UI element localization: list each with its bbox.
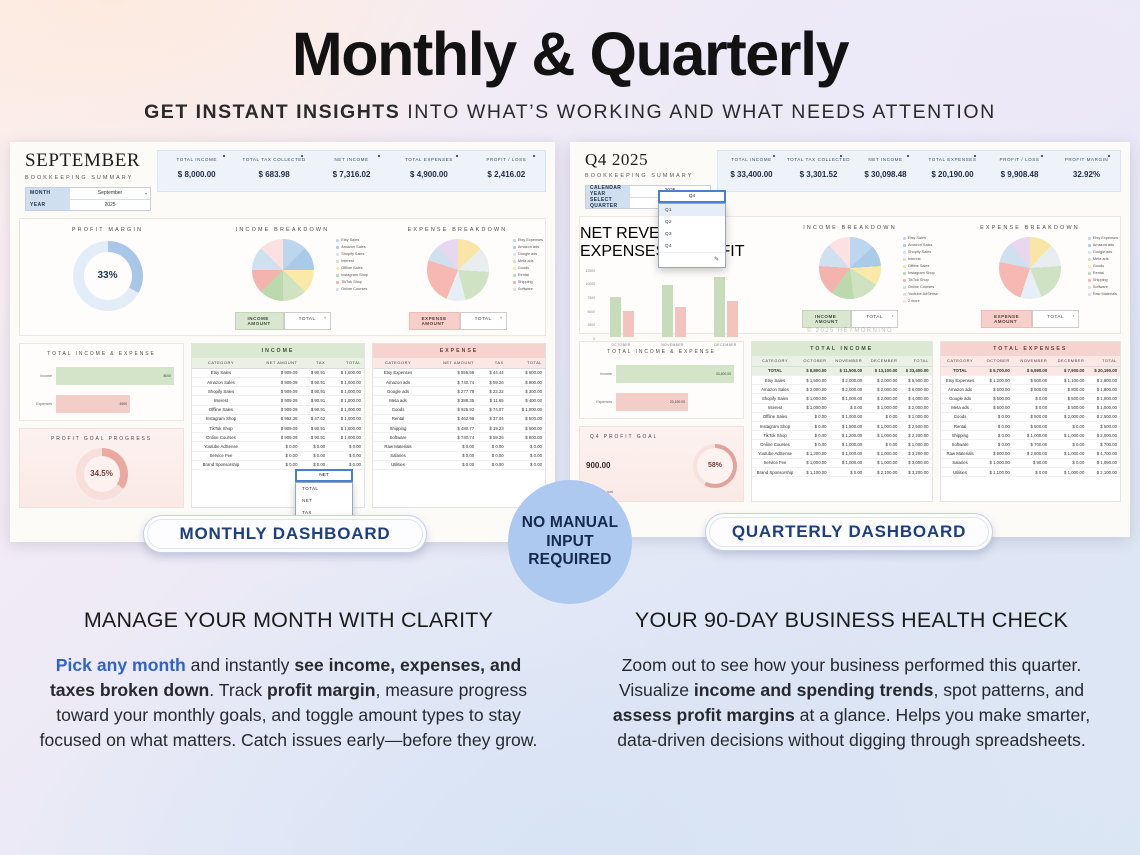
income-breakdown-pie	[252, 239, 314, 301]
row-category: Amazon ads	[941, 385, 980, 394]
q-total-income-expense-title: TOTAL INCOME & EXPENSE	[586, 349, 737, 355]
row-value: $ 2,800.00	[1087, 376, 1120, 385]
table-row: Online Courses$ 0.00$ 1,000.00$ 0.00$ 1,…	[752, 440, 932, 449]
row-value: $ 2,000.00	[900, 403, 931, 412]
expense-total-dropdown[interactable]: TOTAL▾	[460, 312, 507, 330]
row-value: $ 0.00	[250, 451, 301, 460]
row-value: $ 1,000.00	[900, 440, 931, 449]
table-row: Offline Sales$ 909.09$ 90.91$ 1,000.00	[192, 405, 364, 414]
quarterly-income-caption: TOTAL INCOME	[752, 342, 932, 356]
quarterly-copy-heading: YOUR 90-DAY BUSINESS HEALTH CHECK	[599, 608, 1104, 633]
row-value: $ 90.91	[300, 396, 328, 405]
kpi-card: TOTAL TAX COLLECTED$ 3,301.52	[785, 151, 852, 191]
row-value: $ 90.91	[300, 387, 328, 396]
monthly-expense-table[interactable]: EXPENSE CATEGORYNET AMOUNTTAXTOTALEtsy E…	[372, 343, 546, 508]
income-type-field[interactable]: NET	[295, 469, 353, 482]
legend-item: Rental	[1088, 270, 1118, 277]
legend-label: Raw Materials	[1093, 291, 1117, 298]
no-manual-input-badge: NO MANUAL INPUT REQUIRED	[508, 480, 632, 604]
row-value: $ 500.00	[980, 394, 1013, 403]
table-row: Software$ 0.00$ 700.00$ 0.00$ 700.00	[941, 440, 1121, 449]
kpi-value: $ 9,908.48	[986, 170, 1053, 179]
expense-amount-toggle[interactable]: EXPENSE AMOUNT TOTAL▾	[408, 312, 506, 330]
row-category: Amazon Sales	[752, 385, 798, 394]
year-value[interactable]: 2025	[70, 200, 150, 210]
income-breakdown-card: INCOME BREAKDOWN Etsy SalesAmazon SalesS…	[195, 219, 370, 335]
row-value: $ 1,090.00	[1087, 458, 1120, 467]
legend-swatch	[1088, 279, 1091, 282]
row-category: Etsy Expenses	[941, 376, 980, 385]
row-category: Utilities	[941, 467, 980, 476]
kpi-value: $ 20,190.00	[919, 170, 986, 179]
row-value: $ 800.00	[507, 433, 545, 442]
profit-goal-value: 34.5%	[90, 469, 113, 478]
table-row: Meta ads$ 388.35$ 11.65$ 400.00	[373, 396, 545, 405]
copy-highlight: Pick any month	[56, 655, 186, 675]
row-value: $ 500.00	[1087, 422, 1120, 431]
kpi-value: $ 33,400.00	[718, 170, 785, 179]
q-income-breakdown-card: INCOME BREAKDOWN Etsy SalesAmazon SalesS…	[760, 217, 940, 333]
feature-copy-row: MANAGE YOUR MONTH WITH CLARITY Pick any …	[0, 608, 1140, 753]
table-row: Meta ads$ 500.00$ 0.00$ 500.00$ 1,000.00	[941, 403, 1121, 412]
monthly-dashboard-panel[interactable]: SEPTEMBER BOOKKEEPING SUMMARY MONTH Sept…	[10, 142, 555, 542]
chevron-down-icon: ▾	[324, 316, 326, 320]
q-expense-breakdown-card: EXPENSE BREAKDOWN Etsy ExpensesAmazon ad…	[940, 217, 1120, 333]
row-category: Brand Sponsorship	[752, 467, 798, 476]
kpi-label: TOTAL EXPENSES	[919, 157, 986, 164]
table-row: Instagram Shop$ 952.38$ 47.62$ 1,000.00	[192, 414, 364, 423]
total-income-expense-card: TOTAL INCOME & EXPENSE Income 8000 Expen…	[19, 343, 184, 421]
legend-item: Online Courses	[903, 284, 938, 291]
row-value: $ 0.00	[250, 442, 301, 451]
row-value: $ 2,200.00	[900, 431, 931, 440]
quarterly-tables-row: TOTAL INCOME & EXPENSE Income 33,400.00 …	[579, 341, 1121, 502]
row-value: $ 1,000.00	[798, 403, 830, 412]
legend-item: Interest	[336, 258, 368, 265]
dropdown-option[interactable]: NET	[296, 495, 352, 507]
legend-swatch	[903, 293, 906, 296]
legend-label: Shopify Sales	[341, 251, 364, 258]
row-category: Rental	[373, 414, 423, 423]
row-value: $ 2,500.00	[1087, 412, 1120, 421]
income-amount-toggle[interactable]: INCOME AMOUNT TOTAL▾	[234, 312, 330, 330]
year-selector-row[interactable]: YEAR 2025	[26, 199, 150, 210]
net-revenue-bars	[596, 269, 752, 337]
legend-swatch	[903, 272, 906, 275]
quarterly-expense-table[interactable]: TOTAL EXPENSES CATEGORYOCTOBERNOVEMBERDE…	[940, 341, 1122, 502]
legend-swatch	[513, 246, 516, 249]
legend-swatch	[903, 265, 906, 268]
legend-swatch	[903, 300, 906, 303]
row-value: $ 1,500.00	[830, 422, 866, 431]
row-value: $ 2,000.00	[865, 385, 900, 394]
q-income-breakdown-pie	[819, 237, 881, 299]
row-category: Shopify Sales	[752, 394, 798, 403]
edit-pencil-icon[interactable]: ✎	[659, 252, 725, 267]
row-value: $ 0.00	[798, 431, 830, 440]
kpi-card: TOTAL EXPENSES$ 20,190.00	[919, 151, 986, 191]
income-breakdown-legend: Etsy SalesAmazon SalesShopify SalesInter…	[336, 237, 368, 293]
table-row: Etsy Expenses$ 555.56$ 44.44$ 600.00	[373, 368, 545, 377]
row-value: $ 1,000.00	[865, 403, 900, 412]
row-category: TOTAL	[752, 366, 798, 375]
row-value: $ 1,000.00	[865, 449, 900, 458]
expense-bar-label: Expenses	[26, 402, 52, 406]
column-header: TOTAL	[900, 356, 931, 367]
q-expense-amount-button[interactable]: EXPENSE AMOUNT	[981, 310, 1032, 328]
table-row: Amazon Sales$ 909.09$ 90.91$ 1,000.00	[192, 378, 364, 387]
row-value: $ 1,000.00	[830, 394, 866, 403]
row-category: Service Fee	[192, 451, 250, 460]
expense-bar-row: Expenses 4900	[26, 395, 177, 413]
row-value: $ 13,100.00	[865, 366, 900, 375]
row-value: $ 0.00	[328, 451, 364, 460]
legend-label: TikTok Shop	[341, 279, 362, 286]
row-value: $ 800.00	[507, 378, 545, 387]
column-header: TAX	[300, 358, 328, 369]
row-value: $ 0.00	[798, 422, 830, 431]
legend-swatch	[513, 281, 516, 284]
q-income-total-dropdown[interactable]: TOTAL▾	[851, 310, 898, 328]
legend-item: Goods	[513, 265, 543, 272]
kpi-card: PROFIT / LOSS$ 2,416.02	[468, 151, 545, 191]
row-category: Raw Materials	[373, 442, 423, 451]
legend-label: Amazon ads	[518, 244, 539, 251]
row-value: $ 500.00	[1050, 394, 1087, 403]
kpi-value: $ 2,416.02	[468, 170, 545, 179]
kpi-label: TOTAL INCOME	[718, 157, 785, 164]
legend-label: Etsy Expenses	[518, 237, 543, 244]
q-total-income-expense-card: TOTAL INCOME & EXPENSE Income 33,400.00 …	[579, 341, 744, 419]
expense-breakdown-legend: Etsy ExpensesAmazon adsGoogle adsMeta ad…	[513, 237, 543, 293]
row-value: $ 0.00	[980, 431, 1013, 440]
legend-swatch	[336, 288, 339, 291]
row-value: $ 0.00	[423, 460, 477, 469]
y-tick-label: 2500	[587, 323, 595, 327]
page-title: Monthly & Quarterly	[0, 22, 1140, 88]
income-breakdown-title: INCOME BREAKDOWN	[195, 227, 370, 233]
expense-amount-button[interactable]: EXPENSE AMOUNT	[408, 312, 459, 330]
row-value: $ 3,200.00	[900, 467, 931, 476]
kpi-card: NET INCOME$ 7,316.02	[313, 151, 390, 191]
row-value: $ 90.91	[300, 368, 328, 377]
legend-item: Offline Sales	[903, 263, 938, 270]
y-tick-label: 12500	[586, 269, 595, 273]
row-value: $ 3,000.00	[900, 458, 931, 467]
row-value: $ 4,000.00	[900, 394, 931, 403]
row-category: Etsy Sales	[192, 368, 250, 377]
kpi-value: $ 3,301.52	[785, 170, 852, 179]
dropdown-option[interactable]: Q3	[659, 228, 725, 240]
quarterly-dashboard-button[interactable]: QUARTERLY DASHBOARD	[705, 513, 993, 551]
legend-swatch	[336, 260, 339, 263]
row-value: $ 0.00	[250, 460, 301, 469]
monthly-dashboard-button[interactable]: MONTHLY DASHBOARD	[143, 515, 427, 553]
monthly-selector[interactable]: MONTH September▾ YEAR 2025	[25, 187, 151, 211]
q-income-bar-label: Income	[586, 372, 612, 376]
legend-item: Google ads	[1088, 249, 1118, 256]
row-value: $ 0.00	[300, 442, 328, 451]
net-revenue-yaxis: 12500100007500500025000	[582, 269, 596, 337]
q-profit-goal-value: 58%	[708, 462, 722, 469]
kpi-card: NET INCOME$ 30,098.48	[852, 151, 919, 191]
row-value: $ 500.00	[980, 385, 1013, 394]
table-row: Raw Materials$ 900.00$ 2,800.00$ 1,000.0…	[941, 449, 1121, 458]
x-tick-label: DECEMBER	[714, 343, 736, 347]
q-income-amount-button[interactable]: INCOME AMOUNT	[802, 310, 851, 328]
row-category: Youtube AdSense	[752, 449, 798, 458]
row-value: $ 800.00	[1050, 385, 1087, 394]
quarter-field[interactable]: Q4	[658, 190, 726, 203]
expense-bar: 4900	[56, 395, 130, 413]
income-bar: 8000	[56, 367, 174, 385]
row-value: $ 1,800.00	[1087, 385, 1120, 394]
row-value: $ 0.00	[980, 440, 1013, 449]
legend-label: Software	[1093, 284, 1108, 291]
table-row: Rental$ 462.96$ 37.04$ 500.00	[373, 414, 545, 423]
column-header: TAX	[477, 358, 507, 369]
q-income-bar: 33,400.00	[616, 365, 734, 383]
calendar-year-label: CALENDAR YEAR	[586, 186, 630, 197]
subtitle-bold: GET INSTANT INSIGHTS	[144, 101, 400, 123]
row-category: Raw Materials	[941, 449, 980, 458]
page-subtitle: GET INSTANT INSIGHTS INTO WHAT’S WORKING…	[0, 101, 1140, 124]
quarterly-brand-sub: BOOKKEEPING SUMMARY	[585, 173, 709, 179]
row-category: Brand Sponsorship	[192, 460, 250, 469]
row-value: $ 8,800.00	[798, 366, 830, 375]
chevron-down-icon: ▾	[892, 314, 894, 318]
legend-item: TikTok Shop	[903, 277, 938, 284]
row-value: $ 2,100.00	[865, 467, 900, 476]
kpi-card: TOTAL TAX COLLECTED$ 683.98	[235, 151, 312, 191]
row-value: $ 59.26	[477, 433, 507, 442]
legend-swatch	[336, 246, 339, 249]
row-category: Instagram Shop	[192, 414, 250, 423]
income-total-dropdown[interactable]: TOTAL▾	[284, 312, 331, 330]
row-category: Online Courses	[192, 433, 250, 442]
kpi-card: TOTAL INCOME$ 33,400.00	[718, 151, 785, 191]
row-value: $ 0.00	[1050, 440, 1087, 449]
legend-item: Instagram Shop	[903, 270, 938, 277]
legend-item: TikTok Shop	[336, 279, 368, 286]
kpi-label: TOTAL TAX COLLECTED	[785, 157, 852, 164]
table-row: Goods$ 925.93$ 74.07$ 1,000.00	[373, 405, 545, 414]
row-value: $ 1,000.00	[798, 458, 830, 467]
row-value: $ 7,900.00	[1050, 366, 1087, 375]
legend-swatch	[513, 253, 516, 256]
legend-swatch	[513, 267, 516, 270]
kpi-label: NET INCOME	[852, 157, 919, 164]
row-category: Software	[373, 433, 423, 442]
row-value: $ 740.74	[423, 433, 477, 442]
legend-item: Amazon Sales	[903, 242, 938, 249]
row-value: $ 909.09	[250, 368, 301, 377]
row-value: $ 2,100.00	[1087, 467, 1120, 476]
table-row: Rental$ 0.00$ 500.00$ 0.00$ 500.00	[941, 422, 1121, 431]
monthly-brand-title: SEPTEMBER	[25, 150, 149, 172]
note-marker-icon	[907, 155, 909, 157]
row-value: $ 0.00	[980, 412, 1013, 421]
table-row: Etsy Sales$ 1,500.00$ 2,000.00$ 2,000.00…	[752, 376, 932, 385]
note-marker-icon	[1108, 155, 1110, 157]
legend-label: Rental	[518, 272, 529, 279]
monthly-brand: SEPTEMBER BOOKKEEPING SUMMARY MONTH Sept…	[19, 150, 149, 211]
q-profit-goal-donut: 58%	[693, 444, 737, 488]
row-value: $ 6,000.00	[900, 385, 931, 394]
legend-item: Etsy Sales	[336, 237, 368, 244]
row-value: $ 925.93	[423, 405, 477, 414]
row-value: $ 1,000.00	[1050, 467, 1087, 476]
row-value: $ 0.00	[328, 442, 364, 451]
row-value: $ 2,500.00	[900, 422, 931, 431]
row-value: $ 90.91	[300, 405, 328, 414]
y-tick-label: 5000	[587, 310, 595, 314]
total-income-expense-title: TOTAL INCOME & EXPENSE	[26, 351, 177, 357]
row-value: $ 59.26	[477, 378, 507, 387]
legend-swatch	[513, 260, 516, 263]
row-value: $ 74.07	[477, 405, 507, 414]
row-value: $ 1,000.00	[830, 449, 866, 458]
dropdown-option[interactable]: Q1	[659, 204, 725, 216]
row-value: $ 1,000.00	[328, 378, 364, 387]
legend-label: Etsy Sales	[341, 237, 359, 244]
y-tick-label: 7500	[587, 296, 595, 300]
dropdown-option[interactable]: Q2	[659, 216, 725, 228]
row-category: Shipping	[373, 424, 423, 433]
row-value: $ 500.00	[1013, 376, 1050, 385]
row-category: Youtube AdSense	[192, 442, 250, 451]
legend-swatch	[903, 251, 906, 254]
kpi-label: TOTAL TAX COLLECTED	[235, 157, 312, 164]
row-value: $ 1,100.00	[980, 467, 1013, 476]
q-income-amount-toggle[interactable]: INCOME AMOUNT TOTAL▾	[802, 310, 898, 328]
table-row: Google ads$ 500.00$ 0.00$ 500.00$ 1,000.…	[941, 394, 1121, 403]
kpi-label: PROFIT MARGIN	[1053, 157, 1120, 164]
month-selector-row[interactable]: MONTH September▾	[26, 188, 150, 199]
quarterly-income-table[interactable]: TOTAL INCOME CATEGORYOCTOBERNOVEMBERDECE…	[751, 341, 933, 502]
row-value: $ 0.00	[507, 442, 545, 451]
row-value: $ 0.00	[477, 460, 507, 469]
row-value: $ 0.00	[1013, 403, 1050, 412]
legend-item: Software	[513, 286, 543, 293]
row-category: Instagram Shop	[752, 422, 798, 431]
row-value: $ 300.00	[507, 387, 545, 396]
row-value: $ 1,000.00	[830, 458, 866, 467]
legend-label: Goods	[518, 265, 529, 272]
row-value: $ 500.00	[1013, 422, 1050, 431]
row-value: $ 5,700.00	[980, 366, 1013, 375]
row-value: $ 0.00	[865, 412, 900, 421]
row-value: $ 1,000.00	[328, 405, 364, 414]
monthly-tables-row: TOTAL INCOME & EXPENSE Income 8000 Expen…	[19, 343, 546, 508]
q-expense-bar: 20,190.00	[616, 393, 688, 411]
legend-swatch	[336, 253, 339, 256]
row-value: $ 909.09	[250, 424, 301, 433]
legend-swatch	[1088, 244, 1091, 247]
kpi-label: NET INCOME	[313, 157, 390, 164]
quarterly-dashboard-panel[interactable]: Q4 2025 BOOKKEEPING SUMMARY CALENDAR YEA…	[570, 142, 1130, 537]
table-row: Shopify Sales$ 909.09$ 90.91$ 1,000.00	[192, 387, 364, 396]
legend-swatch	[1088, 258, 1091, 261]
row-value: $ 1,200.00	[830, 431, 866, 440]
row-category: Goods	[941, 412, 980, 421]
kpi-card: PROFIT / LOSS$ 9,908.48	[986, 151, 1053, 191]
row-value: $ 555.56	[423, 368, 477, 377]
q-expense-total-dropdown[interactable]: TOTAL▾	[1032, 310, 1079, 328]
dropdown-option[interactable]: Q4	[659, 240, 725, 252]
y-tick-label: 10000	[586, 282, 595, 286]
q-expense-amount-toggle[interactable]: EXPENSE AMOUNT TOTAL▾	[981, 310, 1079, 328]
row-category: Shipping	[941, 431, 980, 440]
legend-swatch	[1088, 286, 1091, 289]
legend-label: Etsy Expenses	[1093, 235, 1118, 242]
legend-item: Youtube AdSense	[903, 291, 938, 298]
row-category: TikTok Shop	[752, 431, 798, 440]
row-value: $ 90.00	[1013, 458, 1050, 467]
legend-swatch	[513, 288, 516, 291]
legend-swatch	[1088, 251, 1091, 254]
legend-swatch	[336, 267, 339, 270]
legend-item: Raw Materials	[1088, 291, 1118, 298]
kpi-label: PROFIT / LOSS	[468, 157, 545, 164]
column-header: OCTOBER	[980, 356, 1013, 367]
legend-swatch	[336, 239, 339, 242]
expense-breakdown-pie	[427, 239, 489, 301]
legend-label: 2 more	[908, 298, 920, 305]
legend-item: Shopify Sales	[336, 251, 368, 258]
chevron-down-icon: ▾	[500, 316, 502, 320]
legend-item: Shipping	[1088, 277, 1118, 284]
row-value: $ 1,000.00	[830, 440, 866, 449]
table-row: Google ads$ 277.78$ 22.22$ 300.00	[373, 387, 545, 396]
row-category: Meta ads	[373, 396, 423, 405]
kpi-value: $ 8,000.00	[158, 170, 235, 179]
column-header: TOTAL	[1087, 356, 1120, 367]
profit-margin-value: 33%	[97, 270, 117, 281]
row-value: $ 2,000.00	[1087, 431, 1120, 440]
y-tick-label: 0	[593, 337, 595, 341]
table-row: Online Courses$ 909.09$ 90.91$ 1,000.00	[192, 433, 364, 442]
row-category: Offline Sales	[752, 412, 798, 421]
column-header: CATEGORY	[192, 358, 250, 369]
legend-label: Online Courses	[341, 286, 367, 293]
q-profit-goal-title: Q4 PROFIT GOAL	[586, 434, 737, 440]
column-header: CATEGORY	[373, 358, 423, 369]
row-value: $ 1,000.00	[1050, 431, 1087, 440]
row-category: Meta ads	[941, 403, 980, 412]
row-value: $ 1,000.00	[798, 394, 830, 403]
row-value: $ 480.77	[423, 424, 477, 433]
month-value[interactable]: September▾	[70, 188, 150, 199]
row-value: $ 909.09	[250, 387, 301, 396]
q-expense-breakdown-pie	[999, 237, 1061, 299]
profit-goal-donut: 34.5%	[76, 448, 128, 500]
legend-label: Shipping	[518, 279, 533, 286]
row-value: $ 500.00	[1050, 403, 1087, 412]
row-value: $ 1,000.00	[830, 412, 866, 421]
income-amount-button[interactable]: INCOME AMOUNT	[234, 312, 283, 330]
profit-margin-title: PROFIT MARGIN	[20, 227, 195, 233]
table-row: Amazon ads$ 500.00$ 500.00$ 800.00$ 1,80…	[941, 385, 1121, 394]
row-value: $ 0.00	[1050, 422, 1087, 431]
kpi-card: TOTAL EXPENSES$ 4,900.00	[390, 151, 467, 191]
row-value: $ 1,000.00	[900, 412, 931, 421]
dropdown-option[interactable]: TOTAL	[296, 483, 352, 495]
legend-item: Amazon Sales	[336, 244, 368, 251]
legend-label: Interest	[908, 256, 921, 263]
badge-line-3: REQUIRED	[522, 551, 619, 570]
row-category: Etsy Expenses	[373, 368, 423, 377]
